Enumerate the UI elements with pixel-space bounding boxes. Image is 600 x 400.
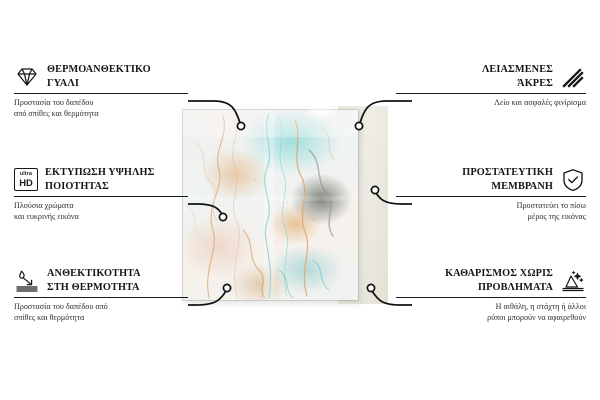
feature-title-line: ΛΕΙΑΣΜΕΝΕΣ [482,63,553,77]
feature-description-line: Λείο και ασφαλές φινίρισμα [396,98,586,109]
feature-divider [14,297,188,298]
ultra-hd-badge-icon: ultra HD [14,168,38,191]
feature-heat-resistant-glass[interactable]: ΘΕΡΜΟΑΝΘΕΚΤΙΚΟ ΓΥΑΛΙ Προστασία του δαπέδ… [14,63,204,119]
marble-veins [183,110,358,300]
feature-description: Προστασία του δαπέδου από σπίθες και θερ… [14,98,204,119]
feature-polished-edges[interactable]: ΛΕΙΑΣΜΕΝΕΣ ΆΚΡΕΣ Λείο και ασφαλές φινίρι… [396,63,586,109]
feature-description: Προστασία του δαπέδου από σπίθες και θερ… [14,302,204,323]
infographic-canvas: ΘΕΡΜΟΑΝΘΕΚΤΙΚΟ ΓΥΑΛΙ Προστασία του δαπέδ… [0,0,600,400]
feature-divider [396,196,586,197]
feature-protective-membrane[interactable]: ΠΡΟΣΤΑΤΕΥΤΙΚΗ ΜΕΜΒΡΑΝΗ Προστατεύει το πί… [396,166,586,222]
feature-title-line: ΠΟΙΟΤΗΤΑΣ [45,180,154,194]
wipe-sparkle-icon [560,268,586,294]
shield-check-icon [560,167,586,193]
feature-title-line: ΣΤΗ ΘΕΡΜΟΤΗΤΑ [47,281,141,295]
feature-description-line: ρύποι μπορούν να αφαιρεθούν [396,313,586,324]
feature-easy-cleaning[interactable]: ΚΑΘΑΡΙΣΜΟΣ ΧΩΡΙΣ ΠΡΟΒΛΗΜΑΤΑ Η αιθάλη, η … [396,267,586,323]
feature-description-line: μέρος της εικόνας [396,212,586,223]
feature-title-line: ΑΝΘΕΚΤΙΚΟΤΗΤΑ [47,267,141,281]
feature-title-line: ΜΕΜΒΡΑΝΗ [491,180,553,194]
feature-description-line: από σπίθες και θερμότητα [14,109,204,120]
feature-description: Λείο και ασφαλές φινίρισμα [396,98,586,109]
feature-description: Προστατεύει το πίσω μέρος της εικόνας [396,201,586,222]
feature-description: Η αιθάλη, η στάχτη ή άλλοι ρύποι μπορούν… [396,302,586,323]
feature-divider [396,297,586,298]
feature-description-line: Η αιθάλη, η στάχτη ή άλλοι [396,302,586,313]
feature-title-line: ΚΑΘΑΡΙΣΜΟΣ ΧΩΡΙΣ [445,267,553,281]
glass-panel-front [183,110,358,300]
feature-description-line: και ευκρινής εικόνα [14,212,204,223]
feature-description-line: Προστασία του δαπέδου [14,98,204,109]
feature-description: Πλούσια χρώματα και ευκρινής εικόνα [14,201,204,222]
feature-title-line: ΓΥΑΛΙ [47,77,151,91]
feature-divider [14,196,188,197]
glass-glare-highlight [303,105,337,121]
diamond-icon [14,64,40,90]
feature-description-line: Προστασία του δαπέδου από [14,302,204,313]
feature-title-line: ΠΡΟΣΤΑΤΕΥΤΙΚΗ [462,166,553,180]
badge-large-text: HD [19,178,33,187]
feature-description-line: Πλούσια χρώματα [14,201,204,212]
feature-high-quality-print[interactable]: ultra HD ΕΚΤΥΠΩΣΗ ΥΨΗΛΗΣ ΠΟΙΟΤΗΤΑΣ Πλούσ… [14,166,204,222]
diagonal-stripes-icon [560,64,586,90]
feature-title-line: ΕΚΤΥΠΩΣΗ ΥΨΗΛΗΣ [45,166,154,180]
feature-heat-durability[interactable]: ΑΝΘΕΚΤΙΚΟΤΗΤΑ ΣΤΗ ΘΕΡΜΟΤΗΤΑ Προστασία το… [14,267,204,323]
feature-divider [14,93,188,94]
product-image [183,110,401,300]
feature-description-line: Προστατεύει το πίσω [396,201,586,212]
feature-title-line: ΘΕΡΜΟΑΝΘΕΚΤΙΚΟ [47,63,151,77]
feature-title-line: ΠΡΟΒΛΗΜΑΤΑ [478,281,553,295]
feature-divider [396,93,586,94]
feature-title-line: ΆΚΡΕΣ [517,77,553,91]
flame-deflect-icon [14,268,40,294]
feature-description-line: σπίθες και θερμότητα [14,313,204,324]
